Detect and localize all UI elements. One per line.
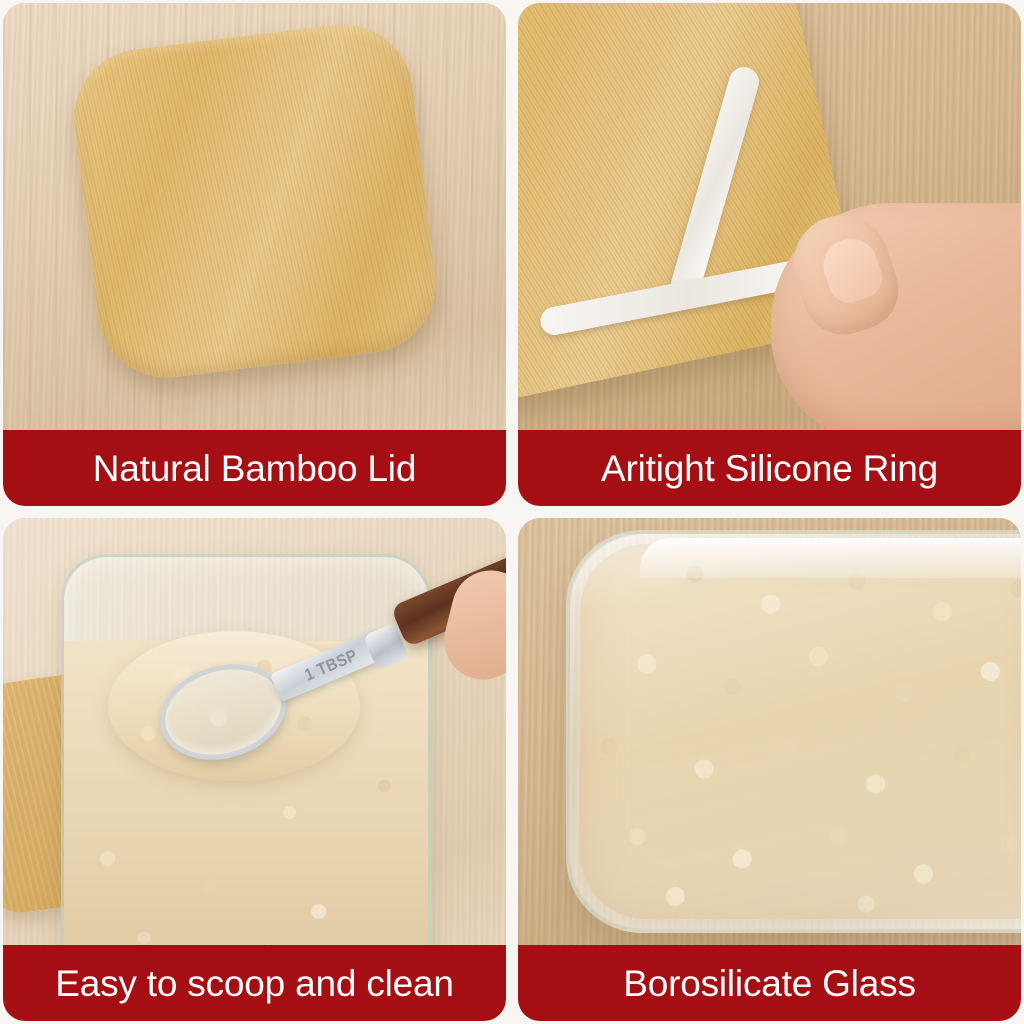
glass-jar	[61, 554, 431, 974]
bamboo-lid	[66, 17, 444, 386]
panel-easy-to-scoop-and-clean[interactable]: 1 TBSP Easy to scoop and clean	[3, 518, 506, 1021]
panel-airtight-silicone-ring[interactable]: Aritight Silicone Ring	[518, 3, 1021, 506]
product-feature-infographic: Natural Bamboo Lid Aritight Silicone Rin…	[0, 0, 1024, 1024]
panel-natural-bamboo-lid[interactable]: Natural Bamboo Lid	[3, 3, 506, 506]
caption-bar-bamboo-lid: Natural Bamboo Lid	[3, 430, 506, 506]
panel-borosilicate-glass[interactable]: Borosilicate Glass	[518, 518, 1021, 1021]
caption-bar-easy-to-scoop: Easy to scoop and clean	[3, 945, 506, 1021]
glass-rim	[640, 538, 1021, 578]
caption-label: Borosilicate Glass	[623, 965, 916, 1002]
borosilicate-glass-container	[566, 530, 1021, 933]
caption-bar-borosilicate-glass: Borosilicate Glass	[518, 945, 1021, 1021]
caption-label: Natural Bamboo Lid	[93, 450, 416, 487]
caption-bar-silicone-ring: Aritight Silicone Ring	[518, 430, 1021, 506]
caption-label: Aritight Silicone Ring	[601, 450, 938, 487]
caption-label: Easy to scoop and clean	[55, 965, 454, 1002]
oats-in-container	[580, 544, 1021, 919]
